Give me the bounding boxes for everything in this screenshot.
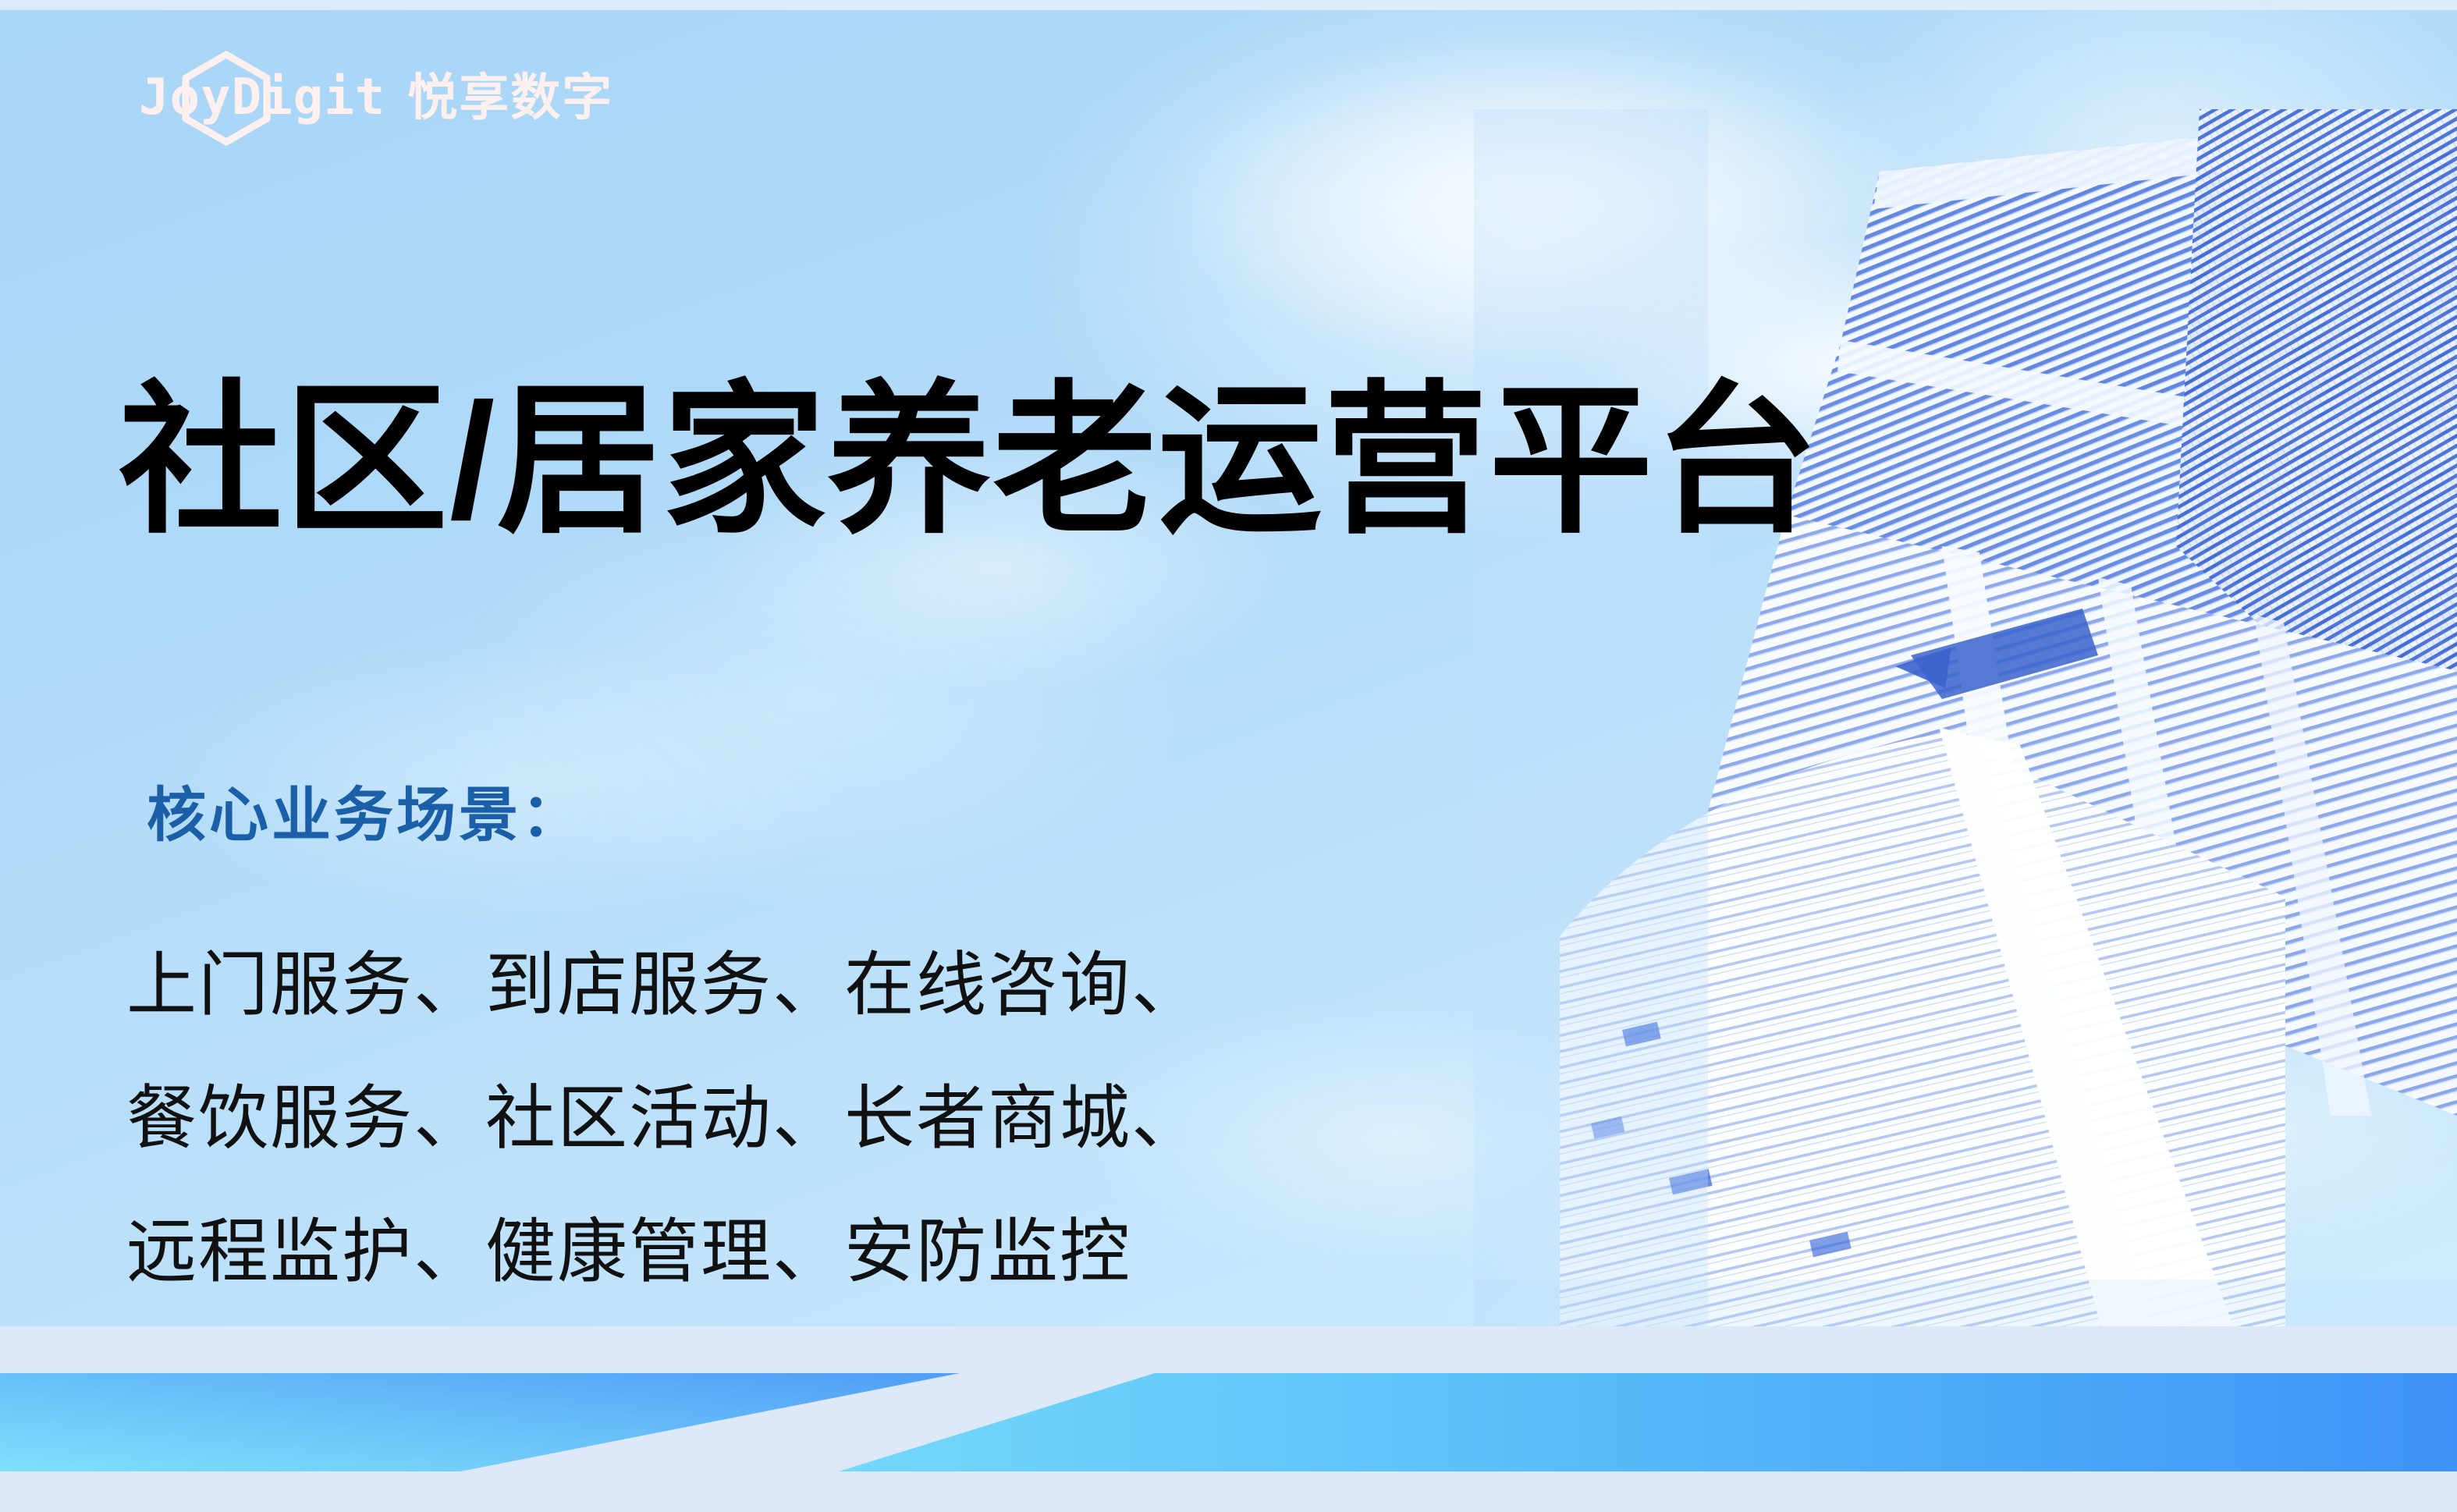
scenario-line: 远程监护、健康管理、安防监控 — [126, 1186, 1203, 1319]
logo-text-english: JoyDigit — [139, 73, 385, 122]
scenario-line: 上门服务、到店服务、在线咨询、 — [126, 919, 1203, 1052]
brand-logo[interactable]: JoyDigit 悦享数字 — [139, 69, 613, 126]
top-edge-strip — [0, 0, 2457, 10]
scenario-line: 餐饮服务、社区活动、长者商城、 — [126, 1052, 1203, 1186]
skyscraper-photo — [1474, 109, 2457, 1404]
section-heading-core-scenarios: 核心业务场景： — [147, 780, 584, 851]
page-title: 社区/居家养老运营平台 — [119, 369, 1820, 552]
logo-text-chinese: 悦享数字 — [407, 73, 613, 122]
core-scenarios-list: 上门服务、到店服务、在线咨询、 餐饮服务、社区活动、长者商城、 远程监护、健康管… — [126, 919, 1203, 1319]
slide-canvas: JoyDigit 悦享数字 社区/居家养老运营平台 核心业务场景： 上门服务、到… — [0, 0, 2457, 1512]
